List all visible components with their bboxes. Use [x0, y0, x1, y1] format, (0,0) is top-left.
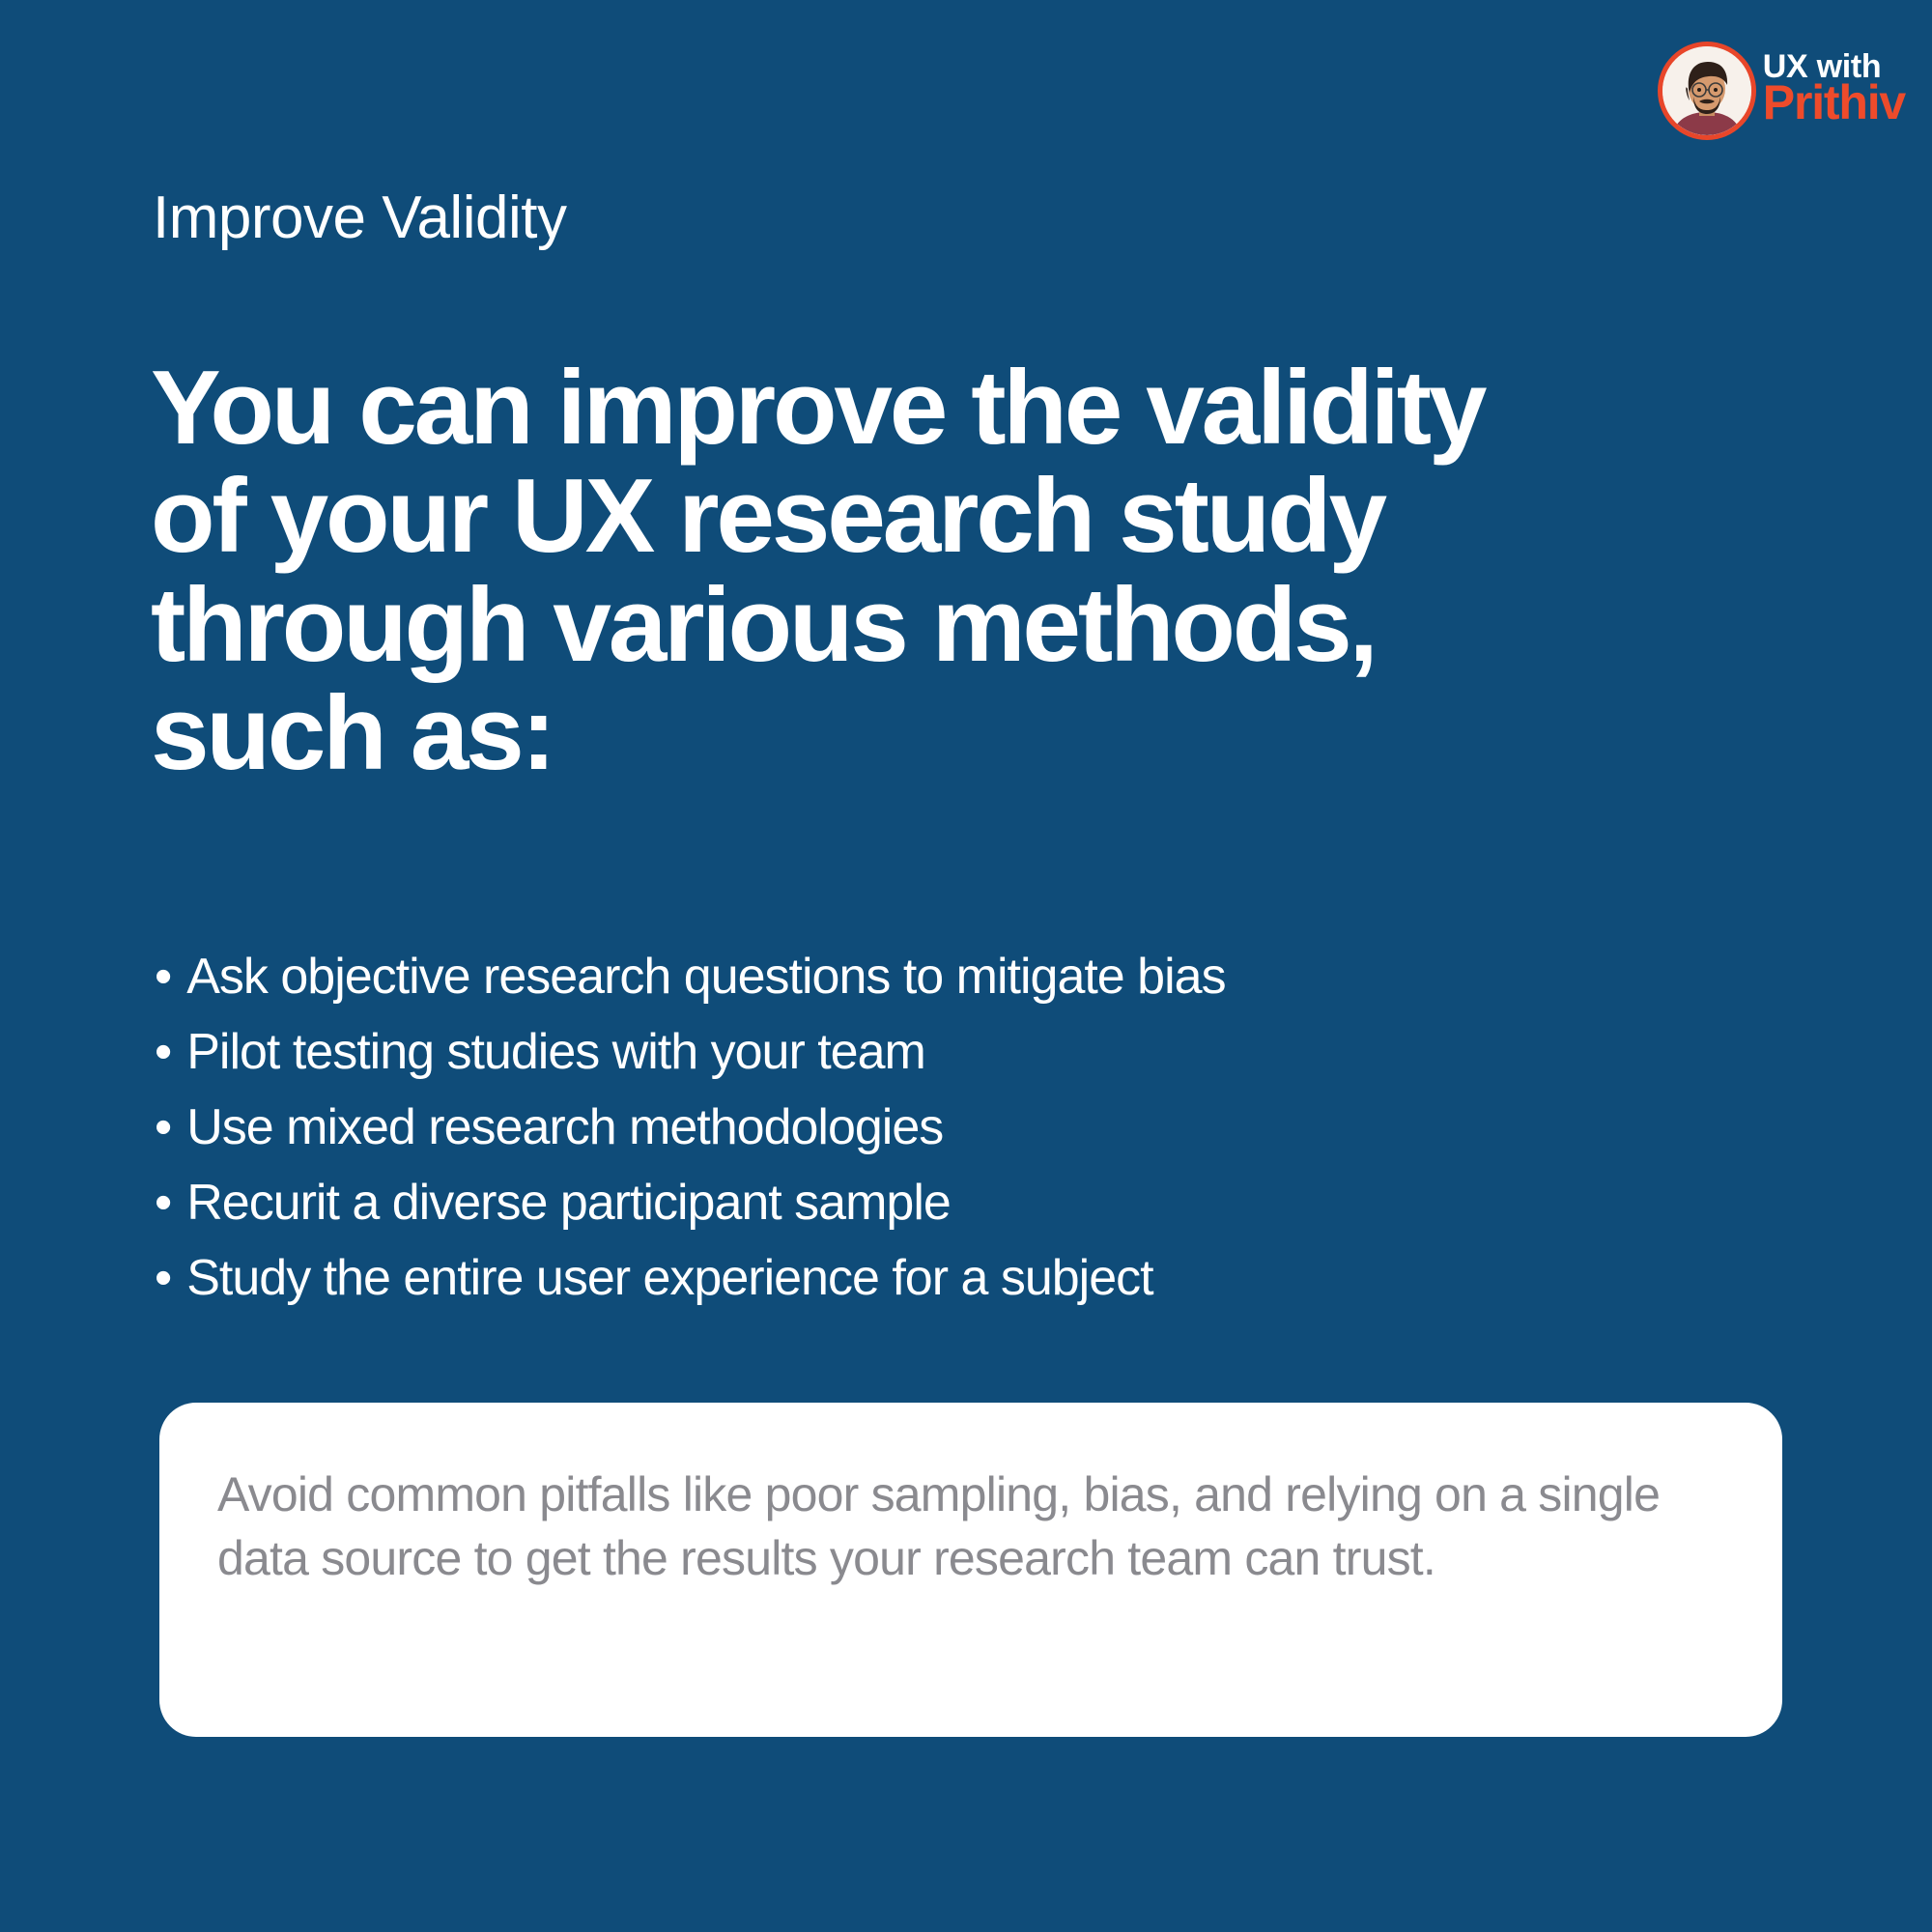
list-item-label: Use mixed research methodologies [186, 1102, 943, 1152]
brand-wordmark: UX with Prithiv [1763, 51, 1905, 130]
brand-logo: UX with Prithiv [1662, 46, 1905, 135]
list-item: • Use mixed research methodologies [155, 1102, 1700, 1152]
list-item-label: Study the entire user experience for a s… [186, 1253, 1152, 1303]
brand-line-two: Prithiv [1763, 79, 1905, 127]
bullet-icon: • [155, 1102, 171, 1152]
list-item: • Pilot testing studies with your team [155, 1027, 1700, 1077]
bullet-icon: • [155, 952, 171, 1002]
list-item: • Study the entire user experience for a… [155, 1253, 1700, 1303]
list-item-label: Ask objective research questions to miti… [186, 952, 1225, 1002]
note-card: Avoid common pitfalls like poor sampling… [159, 1403, 1782, 1737]
list-item: • Ask objective research questions to mi… [155, 952, 1700, 1002]
list-item-label: Recurit a diverse participant sample [186, 1178, 951, 1228]
headline-line: of your UX research study [151, 462, 1812, 570]
headline-line: through various methods, [151, 571, 1812, 679]
bullet-icon: • [155, 1178, 171, 1228]
avatar-illustration-icon [1662, 46, 1751, 135]
headline-line: such as: [151, 679, 1812, 787]
headline: You can improve the validity of your UX … [151, 354, 1812, 787]
list-item: • Recurit a diverse participant sample [155, 1178, 1700, 1228]
headline-line: You can improve the validity [151, 354, 1812, 462]
bullet-icon: • [155, 1027, 171, 1077]
list-item-label: Pilot testing studies with your team [186, 1027, 925, 1077]
note-card-text: Avoid common pitfalls like poor sampling… [217, 1463, 1724, 1590]
methods-list: • Ask objective research questions to mi… [155, 952, 1700, 1328]
bullet-icon: • [155, 1253, 171, 1303]
page-title: Improve Validity [153, 188, 566, 248]
